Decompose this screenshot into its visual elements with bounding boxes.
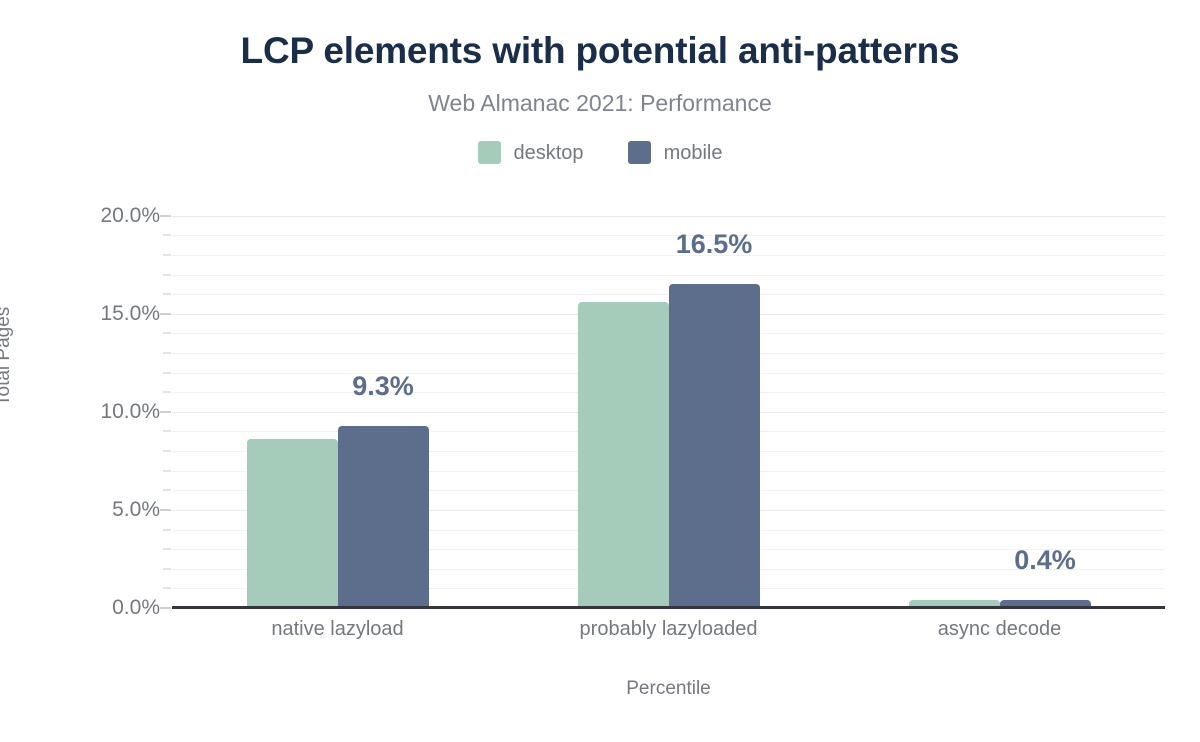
y-axis-minor-tick (163, 470, 171, 472)
bar-value-label: 16.5% (676, 229, 753, 260)
y-axis-major-tick (160, 509, 171, 511)
y-axis-minor-tick (163, 548, 171, 550)
y-axis-major-tick (160, 607, 171, 609)
y-axis-minor-tick (163, 529, 171, 531)
y-axis-minor-tick (163, 254, 171, 256)
y-axis-major-tick (160, 411, 171, 413)
y-axis-major-tick (160, 313, 171, 315)
y-axis-minor-tick (163, 587, 171, 589)
y-axis-tick-label: 15.0% (30, 302, 160, 326)
legend-swatch-mobile (628, 141, 651, 164)
legend-item-desktop[interactable]: desktop (478, 141, 584, 164)
bar-value-label: 9.3% (352, 371, 414, 402)
x-axis-tick-label: probably lazyloaded (580, 618, 758, 641)
bar-mobile-probably-lazyloaded[interactable] (669, 284, 760, 608)
y-axis-tick-label: 10.0% (30, 400, 160, 424)
x-axis-tick-label: async decode (938, 618, 1061, 641)
y-axis-minor-tick (163, 489, 171, 491)
gridline (172, 275, 1165, 276)
legend-label: mobile (664, 143, 723, 163)
legend-item-mobile[interactable]: mobile (628, 141, 723, 164)
x-axis-line (172, 606, 1165, 609)
y-axis-minor-tick (163, 332, 171, 334)
y-axis-minor-tick (163, 234, 171, 236)
plot-area: 9.3%16.5%0.4% (172, 204, 1165, 608)
gridline (172, 235, 1165, 236)
bar-chart: LCP elements with potential anti-pattern… (0, 0, 1200, 742)
y-axis-minor-tick (163, 568, 171, 570)
bar-value-label: 0.4% (1014, 545, 1076, 576)
legend-label: desktop (514, 143, 584, 163)
y-axis-minor-tick (163, 274, 171, 276)
x-axis-title: Percentile (172, 678, 1165, 700)
gridline (172, 255, 1165, 256)
bar-desktop-native-lazyload[interactable] (247, 439, 338, 608)
gridline (172, 216, 1165, 217)
y-axis-minor-tick (163, 391, 171, 393)
y-axis-major-tick (160, 215, 171, 217)
chart-legend: desktopmobile (0, 141, 1200, 164)
y-axis-minor-tick (163, 293, 171, 295)
y-axis-minor-tick (163, 450, 171, 452)
x-axis-tick-label: native lazyload (271, 618, 403, 641)
y-axis-minor-tick (163, 372, 171, 374)
chart-title: LCP elements with potential anti-pattern… (0, 30, 1200, 72)
y-axis-ticks: 0.0%5.0%10.0%15.0%20.0% (0, 0, 160, 742)
bar-mobile-native-lazyload[interactable] (338, 426, 429, 608)
y-axis-title: Total Pages (0, 307, 15, 406)
y-axis-tick-label: 0.0% (30, 596, 160, 620)
chart-subtitle: Web Almanac 2021: Performance (0, 90, 1200, 117)
legend-swatch-desktop (478, 141, 501, 164)
bar-desktop-probably-lazyloaded[interactable] (578, 302, 669, 608)
y-axis-minor-tick (163, 430, 171, 432)
y-axis-minor-tick (163, 352, 171, 354)
y-axis-tick-label: 5.0% (30, 498, 160, 522)
y-axis-tick-label: 20.0% (30, 204, 160, 228)
